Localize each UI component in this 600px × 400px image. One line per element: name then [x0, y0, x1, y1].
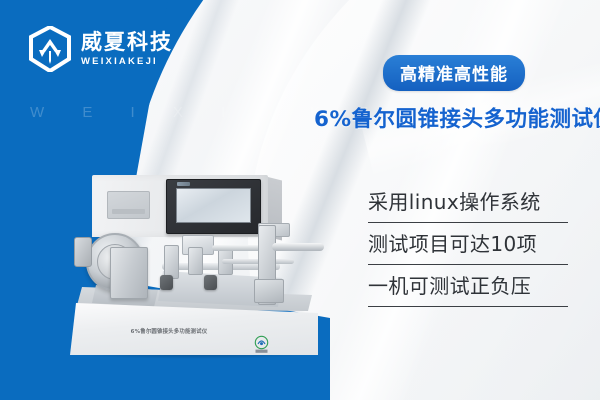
feature-label: 采用linux操作系统	[368, 190, 568, 215]
list-item: 一机可测试正负压	[368, 274, 568, 307]
feature-label: 一机可测试正负压	[368, 274, 568, 299]
fixture-post-2	[188, 247, 203, 275]
feature-list: 采用linux操作系统 测试项目可达10项 一机可测试正负压	[368, 190, 568, 316]
tagline-badge: 高精准高性能	[383, 55, 525, 91]
brand-name-cn: 威夏科技	[81, 32, 173, 53]
feature-label: 测试项目可达10项	[368, 232, 568, 257]
machine-access-plate	[107, 191, 150, 219]
brand-name-en: WEIXIAKEJI	[81, 57, 173, 67]
list-item: 采用linux操作系统	[368, 190, 568, 223]
fixture-post-1	[164, 245, 179, 279]
adjust-knob-2	[204, 275, 217, 290]
page-title: 6%鲁尔圆锥接头多功能测试仪	[314, 102, 600, 133]
tailstock-foot	[254, 279, 284, 303]
promo-banner: 威夏科技 WEIXIAKEJI W E I X I A K E 高精准高性能 6…	[0, 0, 600, 400]
tailstock-rod	[272, 243, 324, 251]
dial-arm	[74, 237, 92, 267]
product-image: 6%鲁尔圆锥接头多功能测试仪	[62, 175, 332, 365]
hexagon-shield-mountain-icon	[28, 26, 72, 72]
list-item: 测试项目可达10项	[368, 232, 568, 265]
hmi-led-strip	[177, 182, 190, 186]
adjust-knob-1	[160, 275, 173, 290]
hmi-screen	[176, 188, 251, 223]
dial-support-block	[110, 247, 148, 299]
brand-logo: 威夏科技 WEIXIAKEJI	[28, 26, 173, 72]
touchscreen-hmi	[166, 179, 261, 234]
cmd-certification-mark	[252, 335, 271, 354]
machine-model-label: 6%鲁尔圆锥接头多功能测试仪	[94, 327, 244, 335]
